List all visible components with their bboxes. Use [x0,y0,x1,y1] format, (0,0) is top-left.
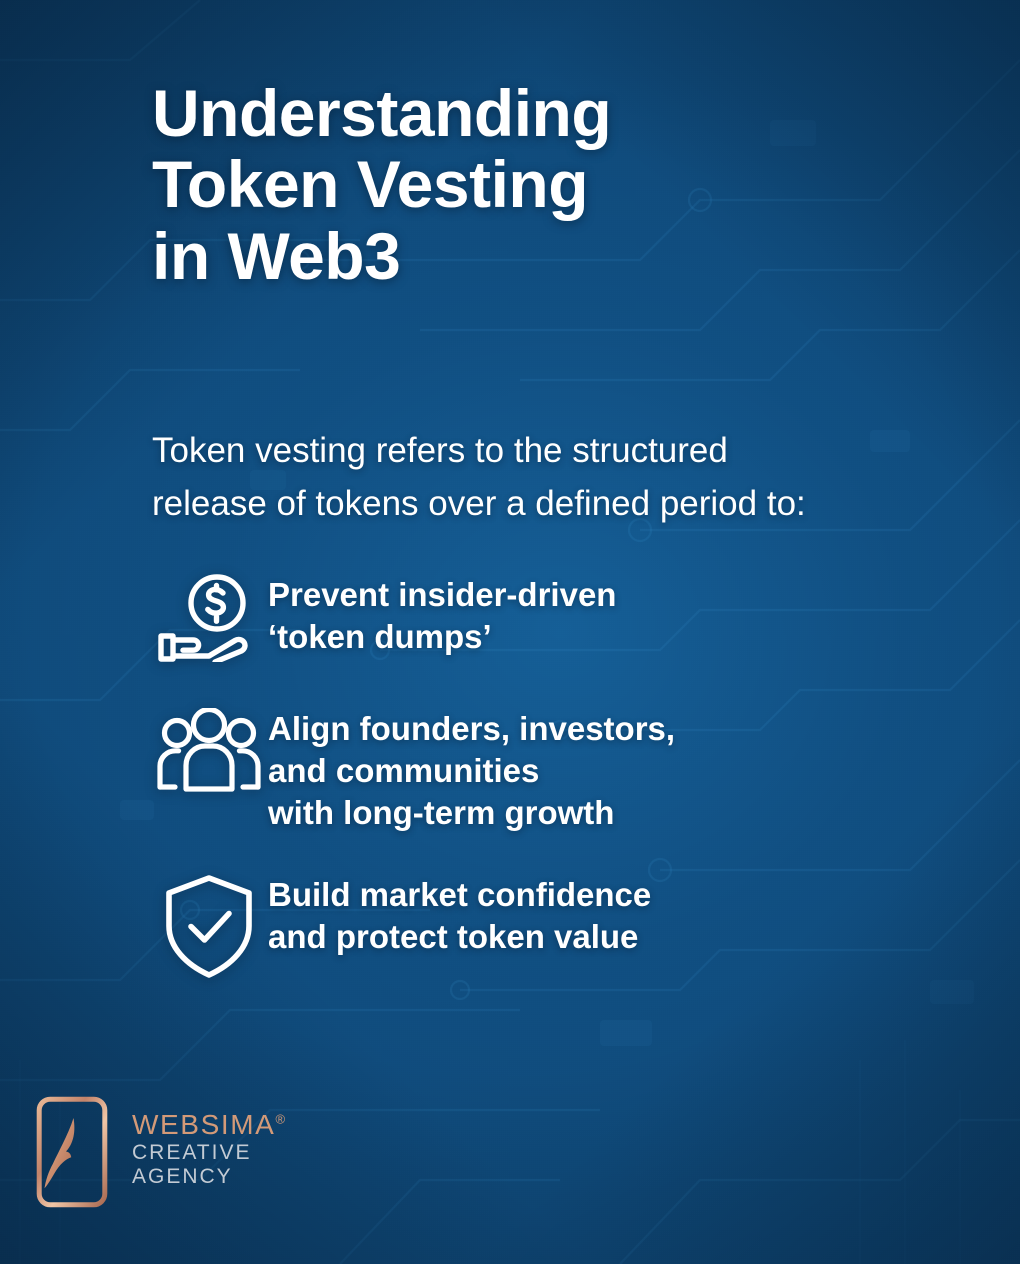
poster-content: Understanding Token Vesting in Web3 Toke… [0,0,1020,1264]
logo-wordmark: WEBSIMA® CREATIVE AGENCY [132,1110,285,1193]
list-item-text: Align founders, investors, and communiti… [268,704,675,834]
token-vesting-poster: Understanding Token Vesting in Web3 Toke… [0,0,1020,1264]
group-of-people-icon [150,704,268,792]
registered-trademark-icon: ® [275,1112,285,1127]
logo-brand-text: WEBSIMA [132,1109,275,1140]
bullet-1-line-2: ‘token dumps’ [268,616,616,658]
bullet-2-line-2: and communities [268,750,675,792]
logo-brand-name: WEBSIMA® [132,1110,285,1140]
bullet-1-line-1: Prevent insider-driven [268,574,616,616]
headline-line-1: Understanding [152,78,932,149]
bullet-3-line-2: and protect token value [268,916,651,958]
shield-check-icon [150,870,268,978]
brand-logo[interactable]: WEBSIMA® CREATIVE AGENCY [36,1096,285,1208]
benefits-list: Prevent insider-driven ‘token dumps’ [150,570,970,978]
subtitle-line-2: release of tokens over a defined period … [152,477,942,530]
list-item-text: Prevent insider-driven ‘token dumps’ [268,570,616,658]
list-item: Prevent insider-driven ‘token dumps’ [150,570,970,662]
subtitle-line-1: Token vesting refers to the structured [152,424,942,477]
bullet-2-line-3: with long-term growth [268,792,675,834]
logo-tagline: CREATIVE AGENCY [132,1141,285,1190]
list-item: Align founders, investors, and communiti… [150,704,970,834]
page-title: Understanding Token Vesting in Web3 [152,78,932,292]
headline-line-3: in Web3 [152,221,932,292]
subtitle: Token vesting refers to the structured r… [152,424,942,530]
list-item-text: Build market confidence and protect toke… [268,870,651,958]
logo-tagline-line-2: AGENCY [132,1165,285,1190]
bullet-3-line-1: Build market confidence [268,874,651,916]
hand-holding-coin-icon [150,570,268,662]
logo-tagline-line-1: CREATIVE [132,1141,285,1166]
bullet-2-line-1: Align founders, investors, [268,708,675,750]
websima-swoosh-in-rounded-frame-icon [36,1096,108,1208]
headline-line-2: Token Vesting [152,149,932,220]
list-item: Build market confidence and protect toke… [150,870,970,978]
